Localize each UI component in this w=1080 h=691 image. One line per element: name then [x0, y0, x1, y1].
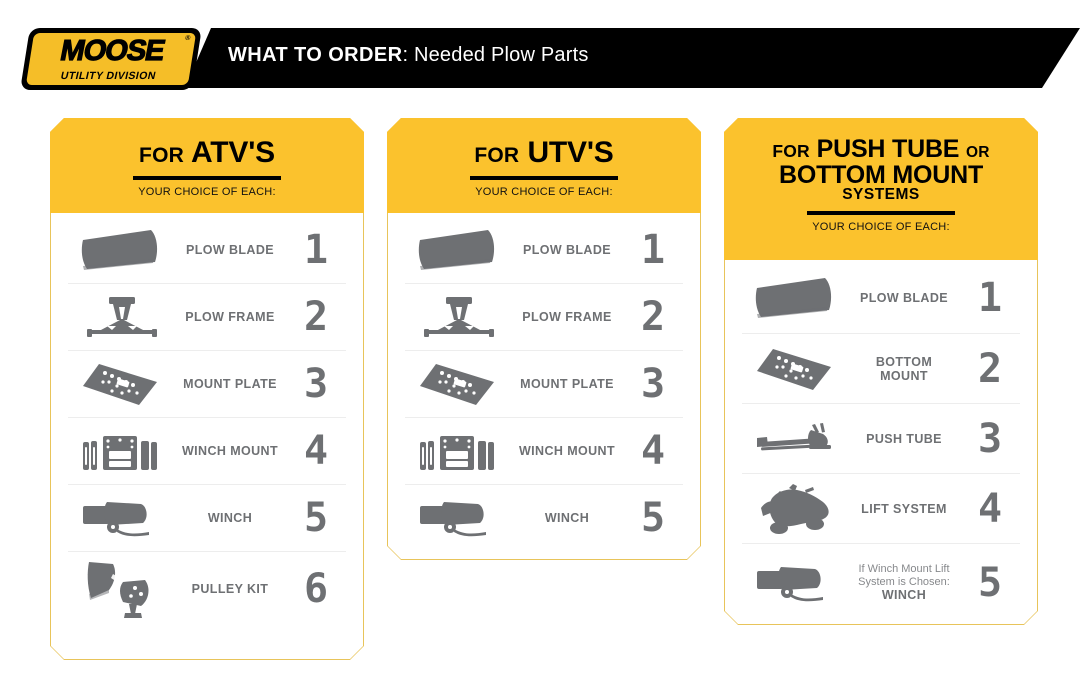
- card-title-rule: [807, 211, 955, 215]
- list-item[interactable]: PLOW BLADE 1: [742, 263, 1020, 333]
- list-item-label: LIFT SYSTEM: [850, 502, 958, 516]
- card-title-rule: [470, 176, 618, 180]
- list-item-label: BOTTOM MOUNT: [850, 355, 958, 383]
- list-item-label: PLOW FRAME: [513, 310, 621, 324]
- list-item[interactable]: PLOW FRAME 2: [405, 283, 683, 350]
- list-item-label-text: WINCH: [882, 588, 926, 602]
- winch-icon: [68, 496, 176, 540]
- card-push-tube-bottom-mount: FOR PUSH TUBE OR BOTTOM MOUNT SYSTEMS YO…: [724, 118, 1038, 625]
- list-item-label: PLOW BLADE: [513, 243, 621, 257]
- card-title-main: ATV'S: [191, 136, 275, 169]
- card-title-for: FOR: [772, 141, 810, 161]
- plow-blade-icon: [405, 228, 513, 272]
- list-item-number: 2: [621, 297, 683, 337]
- card-atvs: FOR ATV'S YOUR CHOICE OF EACH: PLOW BLAD…: [50, 118, 364, 660]
- list-item[interactable]: MOUNT PLATE 3: [405, 350, 683, 417]
- list-item-number: 4: [284, 431, 346, 471]
- list-item-label: PLOW BLADE: [850, 291, 958, 305]
- card-title-systems: SYSTEMS: [724, 187, 1038, 203]
- list-item-number: 2: [958, 349, 1020, 389]
- list-item-number: 5: [621, 498, 683, 538]
- list-item-number: 4: [621, 431, 683, 471]
- plow-blade-icon: [68, 228, 176, 272]
- list-item-number: 2: [284, 297, 346, 337]
- plow-frame-icon: [68, 293, 176, 341]
- card-title-main-2: BOTTOM MOUNT: [779, 161, 983, 189]
- plow-frame-icon: [405, 293, 513, 341]
- list-item-number: 5: [958, 563, 1020, 603]
- list-item[interactable]: WINCH MOUNT 4: [68, 417, 346, 484]
- card-header-utvs: FOR UTV'S YOUR CHOICE OF EACH:: [387, 118, 701, 213]
- winch-icon: [742, 561, 850, 605]
- list-item-number: 1: [621, 230, 683, 270]
- list-item-label: PLOW FRAME: [176, 310, 284, 324]
- card-title-for: FOR: [474, 144, 519, 167]
- list-item-label: WINCH MOUNT: [176, 444, 284, 458]
- list-item-number: 1: [958, 278, 1020, 318]
- list-item-note: If Winch Mount Lift System is Chosen:: [850, 563, 958, 589]
- card-subtitle: YOUR CHOICE OF EACH:: [50, 186, 364, 198]
- parts-list-utvs: PLOW BLADE 1: [405, 216, 683, 551]
- cards-container: FOR ATV'S YOUR CHOICE OF EACH: PLOW BLAD…: [0, 0, 1080, 691]
- list-item-label: WINCH MOUNT: [513, 444, 621, 458]
- list-item-label: WINCH: [176, 511, 284, 525]
- list-item[interactable]: PLOW BLADE 1: [68, 216, 346, 283]
- card-header-atvs: FOR ATV'S YOUR CHOICE OF EACH:: [50, 118, 364, 213]
- list-item[interactable]: PLOW FRAME 2: [68, 283, 346, 350]
- card-title-rule: [133, 176, 281, 180]
- parts-list-push-tube: PLOW BLADE 1: [742, 263, 1020, 621]
- list-item-number: 6: [284, 569, 346, 609]
- card-title-main: UTV'S: [527, 136, 613, 169]
- list-item[interactable]: PLOW BLADE 1: [405, 216, 683, 283]
- card-subtitle: YOUR CHOICE OF EACH:: [387, 186, 701, 198]
- list-item[interactable]: LIFT SYSTEM 4: [742, 473, 1020, 543]
- list-item-label: WINCH: [513, 511, 621, 525]
- list-item[interactable]: PUSH TUBE 3: [742, 403, 1020, 473]
- list-item-label: MOUNT PLATE: [176, 377, 284, 391]
- pulley-kit-icon: [68, 558, 176, 620]
- list-item[interactable]: WINCH MOUNT 4: [405, 417, 683, 484]
- list-item-number: 1: [284, 230, 346, 270]
- lift-system-icon: [742, 482, 850, 536]
- winch-icon: [405, 496, 513, 540]
- list-item[interactable]: WINCH 5: [68, 484, 346, 551]
- list-item-label: PUSH TUBE: [850, 432, 958, 446]
- list-item-label: PLOW BLADE: [176, 243, 284, 257]
- list-item[interactable]: MOUNT PLATE 3: [68, 350, 346, 417]
- list-item-label: PULLEY KIT: [176, 582, 284, 596]
- card-header-push-tube: FOR PUSH TUBE OR BOTTOM MOUNT SYSTEMS YO…: [724, 118, 1038, 260]
- mount-plate-icon: [405, 358, 513, 410]
- mount-plate-icon: [68, 358, 176, 410]
- card-title-atvs: FOR ATV'S: [50, 137, 364, 168]
- card-subtitle: YOUR CHOICE OF EACH:: [724, 221, 1038, 233]
- list-item-number: 3: [958, 419, 1020, 459]
- list-item-label: If Winch Mount Lift System is Chosen: WI…: [850, 563, 958, 603]
- list-item-label: MOUNT PLATE: [513, 377, 621, 391]
- parts-list-atvs: PLOW BLADE 1: [68, 216, 346, 625]
- push-tube-icon: [742, 420, 850, 458]
- list-item[interactable]: If Winch Mount Lift System is Chosen: WI…: [742, 543, 1020, 621]
- list-item[interactable]: PULLEY KIT 6: [68, 551, 346, 625]
- bottom-mount-icon: [742, 343, 850, 395]
- list-item[interactable]: BOTTOM MOUNT 2: [742, 333, 1020, 403]
- card-title-push-tube: FOR PUSH TUBE OR BOTTOM MOUNT SYSTEMS: [724, 136, 1038, 203]
- card-utvs: FOR UTV'S YOUR CHOICE OF EACH: PLOW BLAD…: [387, 118, 701, 560]
- winch-mount-icon: [68, 426, 176, 476]
- winch-mount-icon: [405, 426, 513, 476]
- list-item-number: 3: [284, 364, 346, 404]
- card-title-utvs: FOR UTV'S: [387, 137, 701, 168]
- card-title-or: OR: [966, 144, 990, 161]
- card-title-main: PUSH TUBE: [817, 135, 960, 163]
- list-item[interactable]: WINCH 5: [405, 484, 683, 551]
- list-item-number: 5: [284, 498, 346, 538]
- list-item-number: 4: [958, 489, 1020, 529]
- plow-blade-icon: [742, 276, 850, 320]
- list-item-number: 3: [621, 364, 683, 404]
- card-title-for: FOR: [139, 144, 184, 167]
